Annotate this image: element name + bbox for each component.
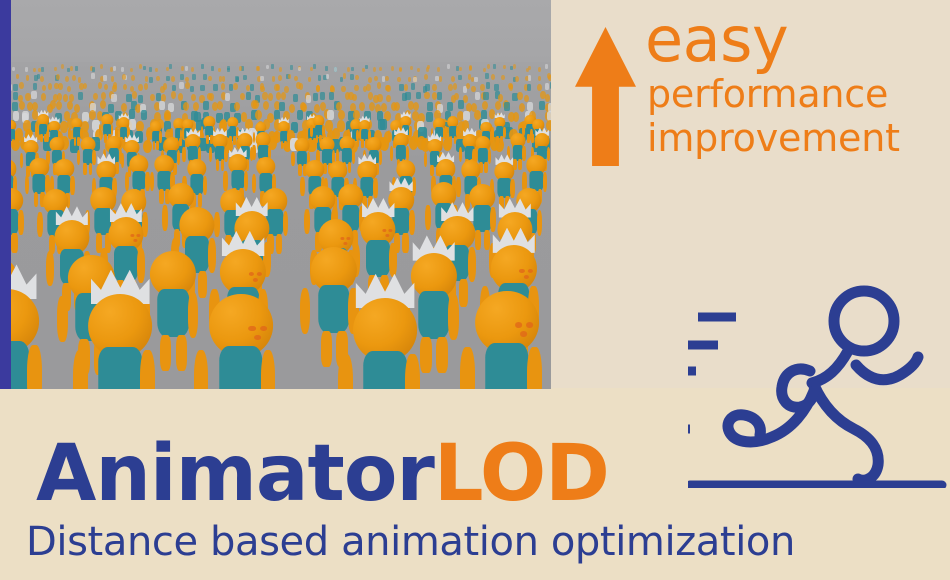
character-cheek-dot bbox=[528, 269, 533, 273]
crowd-blob bbox=[355, 75, 359, 81]
crowd-blob bbox=[550, 82, 551, 89]
character-arm-right bbox=[15, 130, 18, 141]
character-torso bbox=[219, 346, 263, 389]
crowd-blob bbox=[56, 101, 62, 110]
crowd-blob bbox=[78, 77, 82, 83]
crowd-blob bbox=[260, 83, 265, 90]
performance-claim: easy performance improvement bbox=[645, 8, 945, 160]
crowd-blob bbox=[486, 82, 491, 89]
left-accent-stripe bbox=[0, 0, 11, 389]
crowd-blob bbox=[263, 101, 269, 110]
crowd-blob bbox=[67, 101, 73, 110]
crowd-blob bbox=[111, 76, 115, 82]
character-cheek-dot bbox=[341, 237, 345, 240]
animator-lod-promo-banner: easy performance improvement bbox=[0, 0, 950, 580]
character-cheek-dot bbox=[520, 331, 527, 336]
runner-rear-leg bbox=[728, 391, 814, 442]
crowd-blob bbox=[548, 75, 551, 81]
crowd-blob bbox=[78, 92, 83, 100]
crowd-blob bbox=[113, 66, 116, 71]
character-cheek-dot bbox=[260, 326, 267, 331]
character-arm-left bbox=[390, 146, 393, 161]
crowd-blob bbox=[58, 83, 63, 90]
crowd-blob bbox=[325, 66, 328, 71]
crowd-blob bbox=[110, 67, 113, 72]
crowd-blob bbox=[416, 92, 421, 100]
runner-torso bbox=[812, 351, 848, 383]
crowd-blob bbox=[316, 85, 321, 92]
character-arm-right bbox=[140, 350, 155, 389]
crowd-blob bbox=[313, 93, 318, 101]
character-cheek-dot bbox=[254, 335, 261, 340]
crowd-blob bbox=[155, 68, 158, 73]
character-arm-right bbox=[405, 354, 420, 389]
character-cheek-dot bbox=[249, 272, 254, 276]
crowd-blob bbox=[130, 68, 133, 73]
character-arm-left bbox=[35, 124, 38, 135]
character-cheek-dot bbox=[253, 278, 258, 282]
crowd-blob bbox=[350, 74, 354, 80]
crowd-blob bbox=[191, 67, 194, 72]
crowd-blob bbox=[503, 65, 506, 70]
character-leg-right bbox=[11, 233, 17, 253]
crowd-blob bbox=[366, 84, 371, 91]
crowd-blob bbox=[517, 92, 522, 100]
crowd-blob bbox=[458, 75, 462, 81]
crowd-blob bbox=[458, 100, 464, 109]
crowd-blob bbox=[185, 66, 188, 71]
character-arm-left bbox=[291, 152, 294, 167]
crowd-blob bbox=[298, 67, 301, 72]
crowd-blob bbox=[111, 94, 116, 102]
character-arm-left bbox=[73, 350, 88, 389]
crowd-blob bbox=[100, 64, 103, 69]
crowd-blob bbox=[504, 102, 510, 111]
crowd-blob bbox=[424, 92, 429, 100]
crowd-blob bbox=[347, 67, 350, 72]
wordmark-accent: LOD bbox=[434, 429, 609, 519]
crowd-blob bbox=[410, 66, 413, 71]
crowd-blob bbox=[149, 77, 153, 83]
crowd-blob bbox=[65, 76, 69, 82]
character-cheek-dot bbox=[386, 234, 390, 237]
crowd-render-image bbox=[0, 0, 551, 389]
crowd-blob bbox=[427, 102, 433, 111]
crowd-blob bbox=[373, 67, 376, 72]
crowd-blob bbox=[31, 91, 36, 99]
character-arm-left bbox=[460, 347, 475, 389]
crowd-blob bbox=[483, 92, 488, 100]
crowd-blob bbox=[447, 102, 453, 111]
character-leg-right bbox=[436, 337, 448, 373]
crowd-blob bbox=[92, 67, 95, 72]
crowd-blob bbox=[70, 66, 73, 71]
crowd-blob bbox=[491, 74, 495, 80]
character-leg-left bbox=[83, 163, 87, 175]
character-arm-left bbox=[194, 350, 209, 389]
crowd-blob bbox=[424, 74, 428, 80]
crowd-blob bbox=[246, 92, 251, 100]
crowd-blob bbox=[485, 73, 489, 79]
character-cheek-dot bbox=[257, 272, 262, 276]
crowd-blob bbox=[122, 74, 126, 80]
crowd-blob bbox=[368, 77, 372, 83]
character-leg-right bbox=[176, 335, 188, 371]
character-leg-right bbox=[500, 136, 503, 145]
crowd-blob bbox=[108, 104, 114, 113]
crowd-blob bbox=[456, 66, 459, 71]
crowd-blob bbox=[178, 93, 183, 101]
crowd-blob bbox=[25, 67, 28, 72]
character-torso bbox=[132, 171, 145, 191]
wordmark-primary: Animator bbox=[36, 429, 434, 519]
crowd-character bbox=[333, 298, 437, 389]
character-arm-right bbox=[203, 176, 207, 195]
character-cheek-dot bbox=[137, 234, 141, 237]
character-cheek-dot bbox=[133, 239, 137, 242]
product-tagline: Distance based animation optimization bbox=[26, 519, 795, 565]
crowd-blob bbox=[411, 83, 416, 90]
character-arm-right bbox=[27, 345, 42, 389]
character-cheek-dot bbox=[130, 234, 134, 237]
crowd-blob bbox=[313, 64, 316, 69]
crowd-blob bbox=[351, 67, 354, 72]
crowd-blob bbox=[233, 83, 238, 90]
crowd-blob bbox=[250, 84, 255, 91]
crowd-blob bbox=[538, 67, 541, 72]
crowd-blob bbox=[63, 94, 68, 102]
crowd-blob bbox=[513, 64, 516, 69]
crowd-blob bbox=[448, 84, 453, 91]
crowd-blob bbox=[281, 92, 286, 100]
crowd-blob bbox=[132, 91, 137, 99]
running-person-icon bbox=[688, 283, 950, 488]
crowd-blob bbox=[75, 66, 78, 71]
crowd-blob bbox=[453, 83, 458, 90]
crowd-blob bbox=[327, 110, 334, 120]
crowd-blob bbox=[25, 93, 30, 101]
crowd-blob bbox=[101, 92, 106, 100]
character-arm-left bbox=[310, 125, 313, 136]
character-arm-right bbox=[283, 211, 289, 236]
crowd-blob bbox=[306, 95, 311, 103]
character-torso bbox=[231, 170, 244, 190]
crowd-blob bbox=[100, 100, 106, 109]
crowd-blob bbox=[527, 84, 532, 91]
crowd-blob bbox=[294, 76, 298, 82]
character-cheek-dot bbox=[515, 322, 522, 327]
crowd-blob bbox=[192, 74, 196, 80]
crowd-blob bbox=[257, 66, 260, 71]
character-arm-left bbox=[223, 171, 227, 190]
crowd-blob bbox=[166, 76, 170, 82]
crowd-blob bbox=[404, 84, 409, 91]
crowd-blob bbox=[57, 93, 62, 101]
crowd-blob bbox=[213, 84, 218, 91]
crowd-character bbox=[68, 294, 172, 389]
crowd-blob bbox=[149, 67, 152, 72]
crowd-blob bbox=[163, 83, 168, 90]
crowd-blob bbox=[225, 93, 230, 101]
crowd-blob bbox=[480, 84, 485, 91]
crowd-blob bbox=[386, 85, 391, 92]
crowd-blob bbox=[211, 66, 214, 71]
character-cheek-dot bbox=[389, 229, 393, 232]
character-leg-left bbox=[281, 141, 284, 150]
character-leg-left bbox=[153, 141, 156, 150]
character-arm-right bbox=[409, 210, 415, 235]
character-arm-left bbox=[300, 288, 311, 334]
character-arm-right bbox=[322, 125, 325, 136]
runner-front-leg bbox=[814, 385, 878, 480]
crowd-blob bbox=[266, 65, 269, 70]
claim-line-easy: easy bbox=[645, 8, 945, 72]
crowd-blob bbox=[432, 84, 437, 91]
claim-line-performance: performance bbox=[647, 72, 945, 116]
crowd-blob bbox=[203, 101, 209, 110]
crowd-blob bbox=[41, 67, 44, 72]
crowd-blob bbox=[180, 74, 184, 80]
crowd-blob bbox=[334, 67, 337, 72]
character-cheek-dot bbox=[519, 269, 524, 273]
crowd-blob bbox=[12, 102, 18, 111]
crowd-blob bbox=[451, 76, 455, 82]
crowd-blob bbox=[483, 68, 486, 73]
crowd-blob bbox=[138, 95, 143, 103]
crowd-blob bbox=[466, 83, 471, 90]
crowd-blob bbox=[143, 66, 146, 71]
crowd-blob bbox=[405, 92, 410, 100]
character-cheek-dot bbox=[382, 229, 386, 232]
character-arm-left bbox=[99, 124, 102, 135]
crowd-blob bbox=[437, 92, 442, 100]
crowd-character bbox=[189, 294, 293, 389]
character-arm-right bbox=[244, 171, 248, 190]
crowd-blob bbox=[200, 85, 205, 92]
crowd-blob bbox=[475, 92, 480, 100]
crowd-blob bbox=[89, 110, 96, 120]
crowd-blob bbox=[181, 66, 184, 71]
crowd-blob bbox=[545, 64, 548, 69]
crowd-character bbox=[455, 291, 551, 389]
character-arm-left bbox=[150, 172, 154, 191]
crowd-blob bbox=[329, 92, 334, 100]
crowd-blob bbox=[103, 75, 107, 81]
crowd-blob bbox=[19, 82, 24, 89]
crowd-blob bbox=[537, 84, 542, 91]
crowd-blob bbox=[369, 102, 375, 111]
crowd-blob bbox=[121, 67, 124, 72]
character-leg-left bbox=[321, 331, 333, 367]
crowd-blob bbox=[12, 67, 15, 72]
crowd-blob bbox=[474, 77, 478, 83]
crowd-blob bbox=[279, 102, 285, 111]
character-arm-right bbox=[18, 210, 24, 235]
crowd-blob bbox=[201, 64, 204, 69]
crowd-blob bbox=[138, 84, 143, 91]
crowd-blob bbox=[487, 64, 490, 69]
crowd-blob bbox=[139, 64, 142, 69]
character-torso bbox=[363, 351, 407, 389]
crowd-blob bbox=[527, 102, 533, 111]
character-leg-right bbox=[454, 136, 457, 145]
character-arm-left bbox=[444, 126, 447, 137]
crowd-blob bbox=[72, 75, 76, 81]
character-arm-right bbox=[261, 350, 276, 389]
crowd-blob bbox=[243, 75, 247, 81]
crowd-blob bbox=[278, 75, 282, 81]
crowd-blob bbox=[437, 67, 440, 72]
crowd-blob bbox=[320, 92, 325, 100]
crowd-blob bbox=[425, 84, 430, 91]
crowd-blob bbox=[179, 82, 184, 89]
crowd-blob bbox=[67, 68, 70, 73]
crowd-blob bbox=[271, 64, 274, 69]
runner-head bbox=[834, 291, 894, 351]
character-leg-left bbox=[496, 136, 499, 145]
crowd-blob bbox=[98, 82, 103, 89]
crowd-blob bbox=[169, 64, 172, 69]
character-arm-left bbox=[37, 212, 43, 237]
claim-line-improvement: improvement bbox=[647, 116, 945, 160]
crowd-blob bbox=[494, 84, 499, 91]
crowd-blob bbox=[159, 101, 165, 110]
crowd-blob bbox=[519, 103, 525, 112]
character-cheek-dot bbox=[249, 326, 256, 331]
crowd-blob bbox=[293, 94, 298, 102]
crowd-blob bbox=[318, 75, 322, 81]
crowd-blob bbox=[545, 83, 550, 90]
crowd-blob bbox=[141, 110, 148, 120]
crowd-blob bbox=[54, 67, 57, 72]
crowd-blob bbox=[338, 110, 345, 120]
crowd-blob bbox=[279, 67, 282, 72]
crowd-blob bbox=[341, 86, 346, 93]
crowd-blob bbox=[290, 65, 293, 70]
crowd-blob bbox=[13, 84, 18, 91]
character-arm-left bbox=[338, 354, 353, 389]
crowd-blob bbox=[447, 64, 450, 69]
crowd-blob bbox=[314, 104, 320, 113]
crowd-blob bbox=[203, 74, 207, 80]
crowd-blob bbox=[365, 65, 368, 70]
character-cheek-dot bbox=[526, 322, 533, 327]
crowd-blob bbox=[171, 76, 175, 82]
crowd-blob bbox=[493, 64, 496, 69]
crowd-blob bbox=[262, 92, 267, 100]
character-arm-right bbox=[527, 347, 542, 389]
character-arm-left bbox=[147, 131, 150, 142]
character-leg-right bbox=[284, 141, 287, 150]
crowd-blob bbox=[299, 83, 304, 90]
character-cheek-dot bbox=[344, 242, 348, 245]
crowd-blob bbox=[276, 84, 281, 91]
crowd-blob bbox=[439, 76, 443, 82]
character-arm-right bbox=[373, 178, 377, 197]
crowd-blob bbox=[91, 73, 95, 79]
character-torso bbox=[485, 343, 529, 389]
crowd-blob bbox=[377, 94, 382, 102]
character-arm-right bbox=[406, 146, 409, 161]
crowd-blob bbox=[528, 75, 532, 81]
crowd-blob bbox=[50, 100, 56, 109]
character-arm-left bbox=[424, 152, 427, 167]
character-cheek-dot bbox=[524, 275, 529, 279]
character-torso bbox=[99, 347, 143, 389]
character-arm-left bbox=[275, 131, 278, 142]
crowd-blob bbox=[260, 76, 264, 82]
product-wordmark: AnimatorLOD bbox=[36, 434, 609, 514]
crowd-blob bbox=[354, 85, 359, 92]
crowd-blob bbox=[33, 83, 38, 90]
character-arm-right bbox=[111, 124, 114, 135]
runner-speed-lines bbox=[688, 317, 736, 473]
crowd-blob bbox=[56, 74, 60, 80]
character-leg-left bbox=[216, 159, 220, 171]
runner-front-arm bbox=[856, 357, 918, 380]
crowd-blob bbox=[190, 86, 195, 93]
crowd-blob bbox=[377, 82, 382, 89]
crowd-blob bbox=[145, 76, 149, 82]
crowd-blob bbox=[131, 75, 135, 81]
crowd-blob bbox=[209, 93, 214, 101]
crowd-blob bbox=[413, 77, 417, 83]
